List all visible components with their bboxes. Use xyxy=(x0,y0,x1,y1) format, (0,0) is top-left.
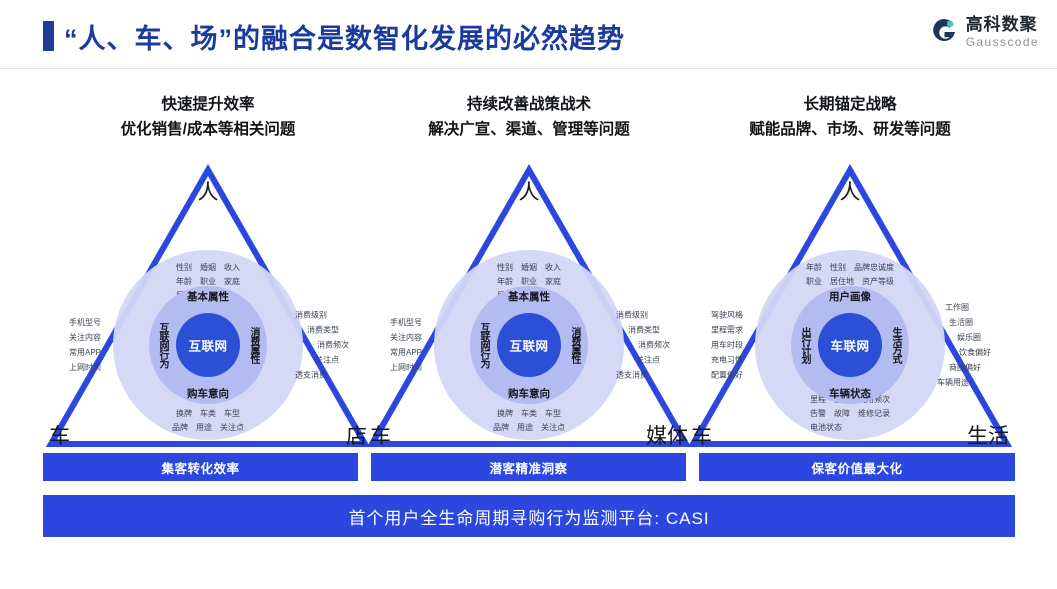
column-heading-3-line2: 赋能品牌、市场、研发等问题 xyxy=(685,117,1015,142)
token: 告警 xyxy=(810,408,826,420)
concentric-rings-1: 性别婚姻收入 年龄职业家庭 居住地 换牌车类车型 品牌用途关注点 手机型号 关注… xyxy=(113,250,303,440)
token: 用途 xyxy=(517,422,533,434)
outer-left-labels-3: 驾驶风格 里程需求 用车时段 充电习惯 配置偏好 xyxy=(711,308,743,383)
header-divider xyxy=(0,68,1057,69)
outer-bottom-labels-1: 换牌车类车型 品牌用途关注点 xyxy=(168,406,248,434)
token: 收入 xyxy=(545,262,561,274)
apex-label-3: 人 xyxy=(685,176,1015,206)
token: 职业 xyxy=(806,276,822,288)
token: 用途 xyxy=(196,422,212,434)
token: 娱乐圈 xyxy=(937,330,991,345)
column-heading-1: 快速提升效率 优化销售/成本等相关问题 xyxy=(43,92,373,142)
token: 资产等级 xyxy=(862,276,894,288)
token: 电池状态 xyxy=(810,422,842,434)
token: 年龄 xyxy=(497,276,513,288)
token: 性别 xyxy=(830,262,846,274)
logo-text-en: Gausscode xyxy=(966,36,1039,48)
column-heading-1-line2: 优化销售/成本等相关问题 xyxy=(43,117,373,142)
brand-logo: 高科数聚 Gausscode xyxy=(929,16,1039,48)
corner-left-label-3: 车 xyxy=(691,420,712,450)
outer-bottom-labels-2: 换牌车类车型 品牌用途关注点 xyxy=(489,406,569,434)
mid-ring-left-label-2: 互联网行为 xyxy=(476,323,491,368)
mid-ring-top-label-2: 基本属性 xyxy=(508,289,550,304)
token: 关注点 xyxy=(295,353,349,368)
token: 关注内容 xyxy=(69,330,101,345)
token: 关注点 xyxy=(541,422,565,434)
column-heading-2: 持续改善战策战术 解决广宣、渠道、管理等问题 xyxy=(364,92,694,142)
logo-text-cn: 高科数聚 xyxy=(966,16,1039,33)
title-accent-bar xyxy=(43,21,54,51)
token: 维修记录 xyxy=(858,408,890,420)
token: 车型 xyxy=(224,408,240,420)
mid-ring-right-label-2: 消费属性 xyxy=(567,327,582,363)
core-label-3: 车联网 xyxy=(830,336,869,355)
outcome-bar-2: 潜客精准洞察 xyxy=(371,453,686,481)
outer-right-labels-3: 工作圈 生活圈 娱乐圈 饮食偏好 商圈偏好 车辆用途 xyxy=(937,300,991,390)
mid-ring-left-label-3: 出行计划 xyxy=(797,327,812,363)
token: 生活圈 xyxy=(937,315,991,330)
page-title: “人、车、场”的融合是数智化发展的必然趋势 xyxy=(64,17,625,56)
token: 常用APP xyxy=(390,345,422,360)
outcome-bar-3: 保客价值最大化 xyxy=(699,453,1015,481)
corner-right-label-2: 媒体 xyxy=(646,420,688,450)
token: 商圈偏好 xyxy=(937,360,991,375)
token: 关注内容 xyxy=(390,330,422,345)
token: 性别 xyxy=(497,262,513,274)
token: 上网时间 xyxy=(69,360,101,375)
token: 收入 xyxy=(224,262,240,274)
token: 驾驶风格 xyxy=(711,308,743,323)
token: 消费频次 xyxy=(295,338,349,353)
outer-top-labels-3: 年龄性别品牌忠诚度 职业居住地资产等级 xyxy=(802,260,898,288)
token: 手机型号 xyxy=(69,315,101,330)
token: 车辆用途 xyxy=(937,375,991,390)
token: 里程需求 xyxy=(711,323,743,338)
platform-summary-bar: 首个用户全生命周期寻购行为监测平台: CASI xyxy=(43,495,1015,537)
token: 消费类型 xyxy=(616,323,670,338)
core-label-2: 互联网 xyxy=(509,336,548,355)
diagram-panel-2: 人 车 媒体 性别婚姻收入 年龄职业家庭 居住地 换牌车类车型 品牌用途关注点 … xyxy=(364,160,694,456)
token: 配置偏好 xyxy=(711,368,743,383)
page-header: “人、车、场”的融合是数智化发展的必然趋势 高科数聚 Gausscode xyxy=(0,0,1057,68)
diagram-panel-1: 人 车 店 性别婚姻收入 年龄职业家庭 居住地 换牌车类车型 品牌用途关注点 手… xyxy=(43,160,373,456)
token: 上网时间 xyxy=(390,360,422,375)
token: 消费级别 xyxy=(616,308,670,323)
column-heading-3: 长期锚定战略 赋能品牌、市场、研发等问题 xyxy=(685,92,1015,142)
outer-left-labels-2: 手机型号 关注内容 常用APP 上网时间 xyxy=(390,315,422,375)
token: 工作圈 xyxy=(937,300,991,315)
mid-ring-right-label-1: 消费属性 xyxy=(246,327,261,363)
token: 年龄 xyxy=(806,262,822,274)
token: 消费类型 xyxy=(295,323,349,338)
token: 性别 xyxy=(176,262,192,274)
mid-ring-bottom-label-1: 购车意向 xyxy=(187,386,229,401)
corner-left-label-2: 车 xyxy=(370,420,391,450)
token: 家庭 xyxy=(545,276,561,288)
mid-ring-left-label-1: 互联网行为 xyxy=(155,323,170,368)
token: 常用APP xyxy=(69,345,101,360)
token: 充电习惯 xyxy=(711,353,743,368)
token: 透支消费 xyxy=(295,368,349,383)
mid-ring-top-label-3: 用户画像 xyxy=(829,289,871,304)
apex-label-1: 人 xyxy=(43,176,373,206)
column-heading-1-line1: 快速提升效率 xyxy=(161,96,254,113)
token: 换牌 xyxy=(176,408,192,420)
logo-mark-icon xyxy=(929,17,959,47)
corner-right-label-3: 生活 xyxy=(967,420,1009,450)
diagram-panel-3: 人 车 生活 年龄性别品牌忠诚度 职业居住地资产等级 里程能耗使用频次 告警故障… xyxy=(685,160,1015,456)
token: 透支消费 xyxy=(616,368,670,383)
token: 婚姻 xyxy=(200,262,216,274)
token: 故障 xyxy=(834,408,850,420)
token: 用车时段 xyxy=(711,338,743,353)
token: 关注点 xyxy=(220,422,244,434)
token: 车类 xyxy=(200,408,216,420)
token: 家庭 xyxy=(224,276,240,288)
core-label-1: 互联网 xyxy=(188,336,227,355)
token: 消费频次 xyxy=(616,338,670,353)
outcome-bar-1: 集客转化效率 xyxy=(43,453,358,481)
outer-left-labels-1: 手机型号 关注内容 常用APP 上网时间 xyxy=(69,315,101,375)
mid-ring-bottom-label-2: 购车意向 xyxy=(508,386,550,401)
outer-right-labels-1: 消费级别 消费类型 消费频次 关注点 透支消费 xyxy=(295,308,349,383)
token: 车型 xyxy=(545,408,561,420)
mid-ring-right-label-3: 生活方式 xyxy=(888,327,903,363)
column-headings: 快速提升效率 优化销售/成本等相关问题 持续改善战策战术 解决广宣、渠道、管理等… xyxy=(0,92,1057,154)
column-heading-2-line2: 解决广宣、渠道、管理等问题 xyxy=(364,117,694,142)
mid-ring-top-label-1: 基本属性 xyxy=(187,289,229,304)
concentric-rings-2: 性别婚姻收入 年龄职业家庭 居住地 换牌车类车型 品牌用途关注点 手机型号 关注… xyxy=(434,250,624,440)
token: 关注点 xyxy=(616,353,670,368)
token: 车类 xyxy=(521,408,537,420)
apex-label-2: 人 xyxy=(364,176,694,206)
token: 品牌 xyxy=(172,422,188,434)
token: 手机型号 xyxy=(390,315,422,330)
mid-ring-bottom-label-3: 车辆状态 xyxy=(829,386,871,401)
token: 品牌 xyxy=(493,422,509,434)
token: 换牌 xyxy=(497,408,513,420)
concentric-rings-3: 年龄性别品牌忠诚度 职业居住地资产等级 里程能耗使用频次 告警故障维修记录 电池… xyxy=(755,250,945,440)
token: 饮食偏好 xyxy=(937,345,991,360)
column-heading-2-line1: 持续改善战策战术 xyxy=(467,96,591,113)
token: 年龄 xyxy=(176,276,192,288)
token: 消费级别 xyxy=(295,308,349,323)
outer-right-labels-2: 消费级别 消费类型 消费频次 关注点 透支消费 xyxy=(616,308,670,383)
token: 婚姻 xyxy=(521,262,537,274)
corner-left-label-1: 车 xyxy=(49,420,70,450)
column-heading-3-line1: 长期锚定战略 xyxy=(803,96,896,113)
token: 品牌忠诚度 xyxy=(854,262,894,274)
